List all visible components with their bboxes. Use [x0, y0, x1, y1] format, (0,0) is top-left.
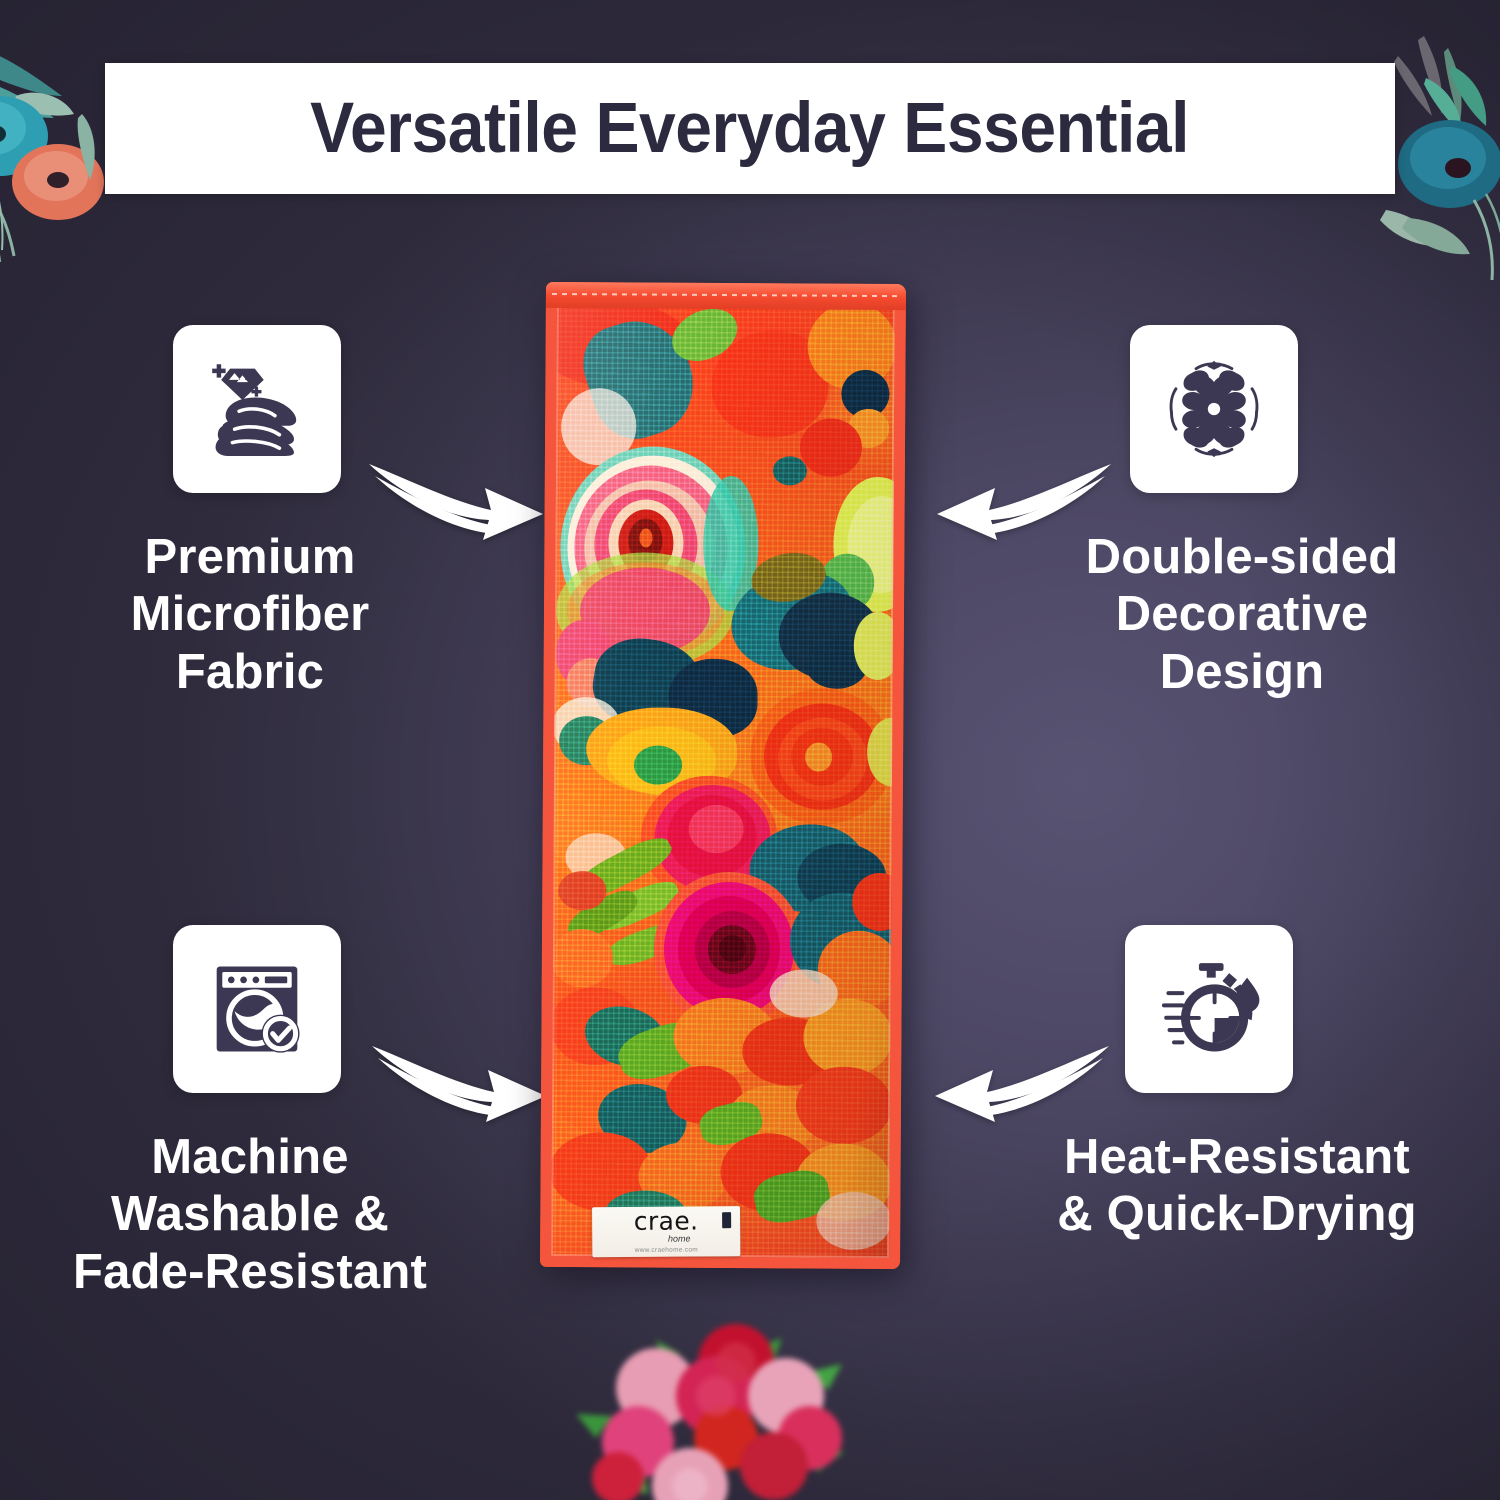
floral-ornament-icon: [1158, 353, 1270, 465]
feature-premium-microfiber-fabric: Premium Microfiber Fabric: [50, 325, 450, 701]
washing-machine-check-icon: [201, 953, 313, 1065]
feature-double-sided-decorative-design: Double-sided Decorative Design: [1045, 325, 1445, 701]
brand-care-label: crae. home www.craehome.com: [592, 1206, 740, 1257]
stopwatch-droplet-icon: [1153, 953, 1265, 1065]
page-title: Versatile Everyday Essential: [311, 88, 1190, 169]
towel-floral-print: [549, 291, 897, 1260]
feature-label: Heat-Resistant & Quick-Drying: [1034, 1129, 1440, 1244]
brand-subtitle: home: [668, 1235, 691, 1244]
feature-icon-tile: [1130, 325, 1298, 493]
feature-icon-tile: [1125, 925, 1293, 1093]
brand-url: www.craehome.com: [635, 1248, 698, 1255]
infographic-canvas: Versatile Everyday Essential: [0, 0, 1500, 1500]
feature-label: Machine Washable & Fade-Resistant: [50, 1129, 450, 1301]
feature-heat-resistant-quick-drying: Heat-Resistant & Quick-Drying: [1040, 925, 1440, 1244]
feature-icon-tile: [173, 325, 341, 493]
towel-top-hem: [546, 282, 906, 310]
feature-label: Premium Microfiber Fabric: [50, 529, 450, 701]
product-image-folded-towel: crae. home www.craehome.com: [543, 283, 903, 1268]
feature-machine-washable-fade-resistant: Machine Washable & Fade-Resistant: [50, 925, 450, 1301]
header-banner: Versatile Everyday Essential: [105, 63, 1395, 194]
feature-icon-tile: [173, 925, 341, 1093]
diamond-folded-towels-icon: [201, 353, 313, 465]
towel-body: crae. home www.craehome.com: [540, 282, 906, 1269]
brand-name: crae.: [634, 1209, 699, 1235]
feature-label: Double-sided Decorative Design: [1039, 529, 1445, 701]
bottom-center-rose-bouquet: [560, 1318, 880, 1500]
